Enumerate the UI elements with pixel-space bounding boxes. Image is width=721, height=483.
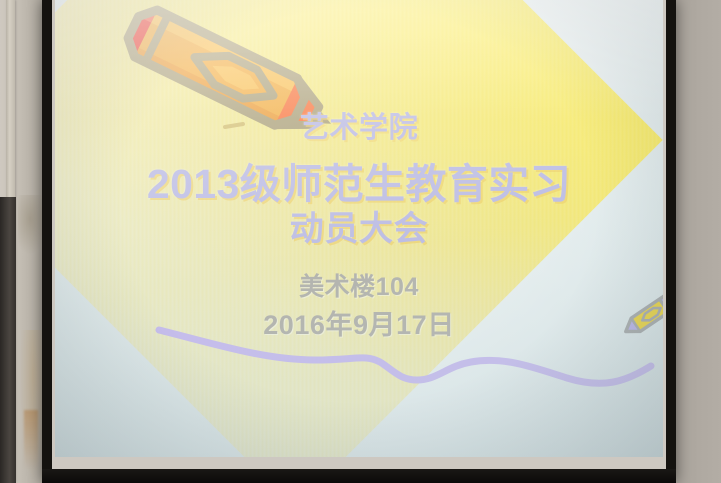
- wall-rust-mark: [24, 410, 38, 470]
- slide-heading-institute: 艺术学院: [55, 104, 663, 146]
- screenshot-root: 艺术学院 2013级师范生教育实习 动员大会 美术楼104 2016年9月17日: [0, 0, 721, 483]
- wall-dark-fixture: [0, 197, 16, 483]
- slide-subtitle-location: 美术楼104: [55, 267, 663, 303]
- projection-area: 艺术学院 2013级师范生教育实习 动员大会 美术楼104 2016年9月17日: [55, 0, 663, 457]
- slide-heading-subline: 动员大会: [55, 201, 663, 250]
- presentation-slide: 艺术学院 2013级师范生教育实习 动员大会 美术楼104 2016年9月17日: [55, 0, 663, 457]
- projector-screen-frame: 艺术学院 2013级师范生教育实习 动员大会 美术楼104 2016年9月17日: [42, 0, 676, 483]
- wavy-line-decoration: [155, 310, 655, 400]
- small-pencil-icon: [617, 284, 663, 346]
- screen-frame-bottom: [42, 469, 676, 483]
